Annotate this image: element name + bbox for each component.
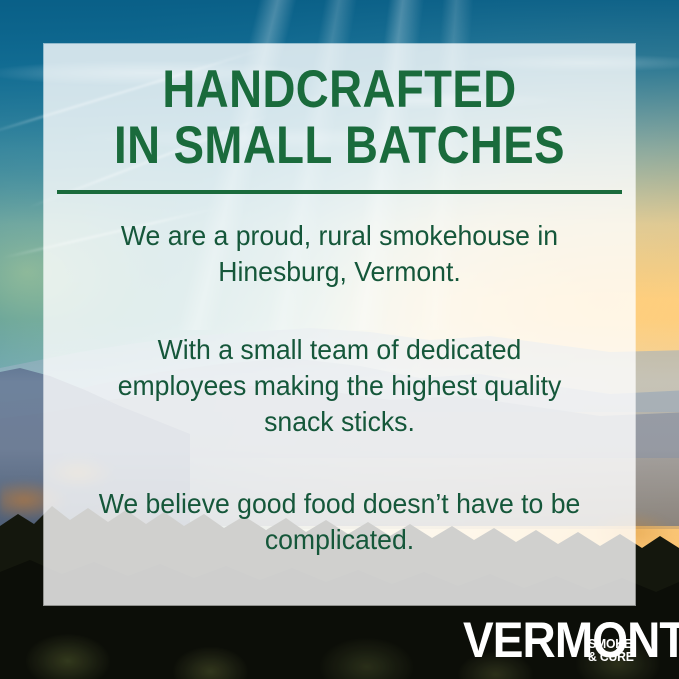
body-copy: We are a proud, rural smokehouse in Hine… [82,218,597,558]
headline-line-1: HANDCRAFTED [162,60,516,119]
logo-wordmark: VERMONT [463,615,679,665]
logo-tagline-line-2: & CURE [588,651,634,664]
headline-line-2: IN SMALL BATCHES [85,118,593,174]
brand-logo: VERMONT SMOKE & CURE [463,613,675,671]
panel-content: HANDCRAFTED IN SMALL BATCHES We are a pr… [44,44,635,605]
promo-image: HANDCRAFTED IN SMALL BATCHES We are a pr… [0,0,679,679]
paragraph-philosophy: We believe good food doesn’t have to be … [95,486,584,558]
paragraph-location: We are a proud, rural smokehouse in Hine… [95,218,584,290]
paragraph-team: With a small team of dedicated employees… [95,332,584,440]
logo-tagline: SMOKE & CURE [588,638,634,663]
divider [57,190,622,194]
page-title: HANDCRAFTED IN SMALL BATCHES [85,44,593,174]
